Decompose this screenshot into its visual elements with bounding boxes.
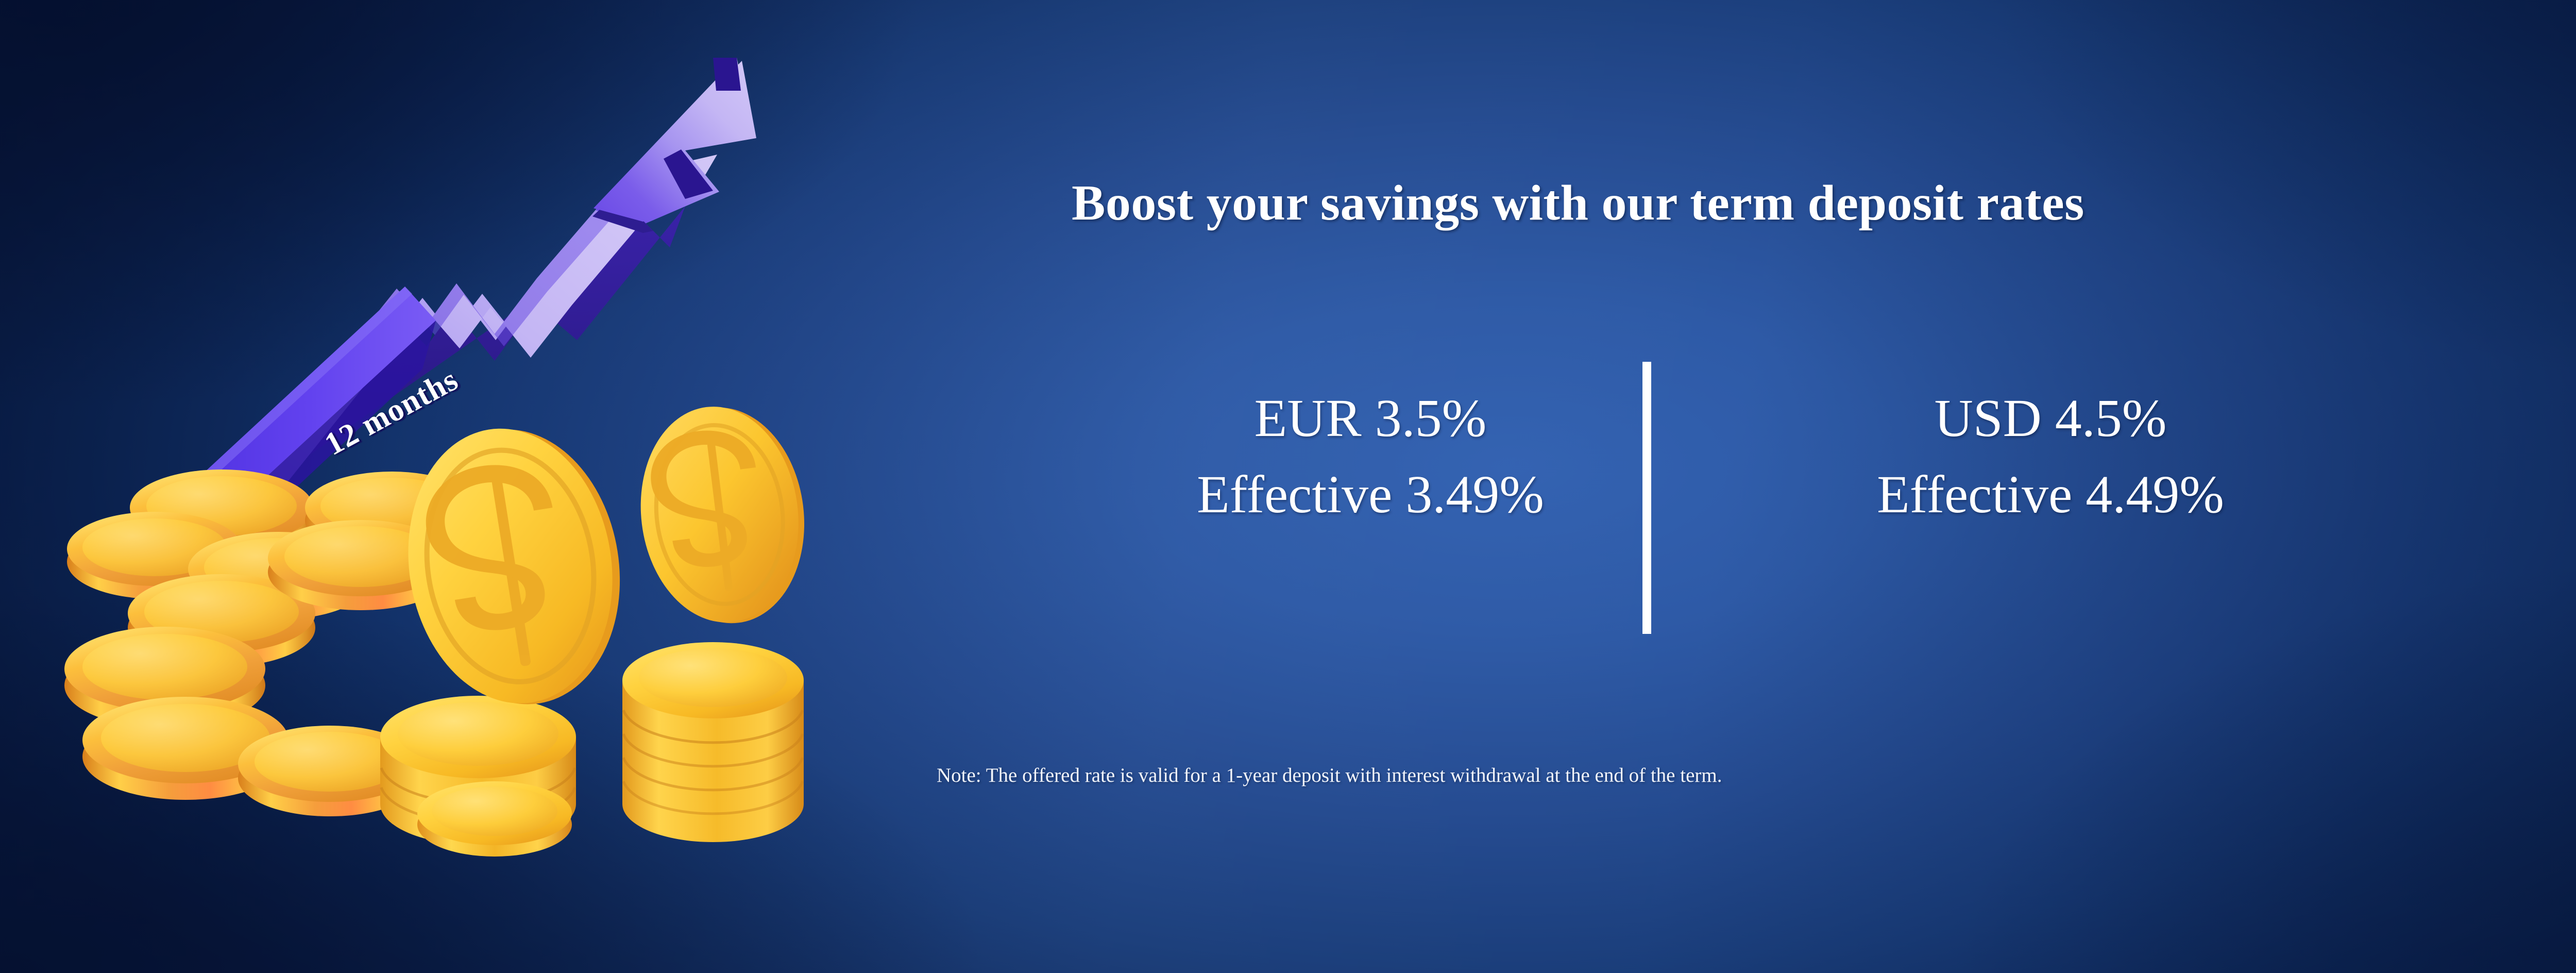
rate-column-usd: USD 4.5% Effective 4.49% — [1710, 392, 2360, 522]
eur-effective-rate: Effective 3.49% — [1061, 468, 1680, 522]
rate-column-eur: EUR 3.5% Effective 3.49% — [1061, 392, 1710, 522]
coin-stack-right — [622, 642, 804, 842]
term-deposit-banner: 12 months Boost your savings with our te… — [0, 0, 2576, 973]
gold-coin-stacks — [64, 397, 816, 857]
coin-upright-dollar-right — [629, 397, 816, 633]
usd-effective-rate: Effective 4.49% — [1741, 468, 2360, 522]
usd-nominal-rate: USD 4.5% — [1741, 392, 2360, 445]
coin-upright-dollar-center — [389, 413, 639, 720]
illustration-artwork — [0, 0, 1082, 973]
rates-comparison: EUR 3.5% Effective 3.49% USD 4.5% Effect… — [1061, 392, 2360, 522]
coin-loose-front-4 — [417, 781, 572, 857]
disclaimer-note: Note: The offered rate is valid for a 1-… — [937, 764, 1722, 787]
page-title: Boost your savings with our term deposit… — [1072, 174, 2084, 232]
rates-divider — [1642, 362, 1651, 634]
eur-nominal-rate: EUR 3.5% — [1061, 392, 1680, 445]
